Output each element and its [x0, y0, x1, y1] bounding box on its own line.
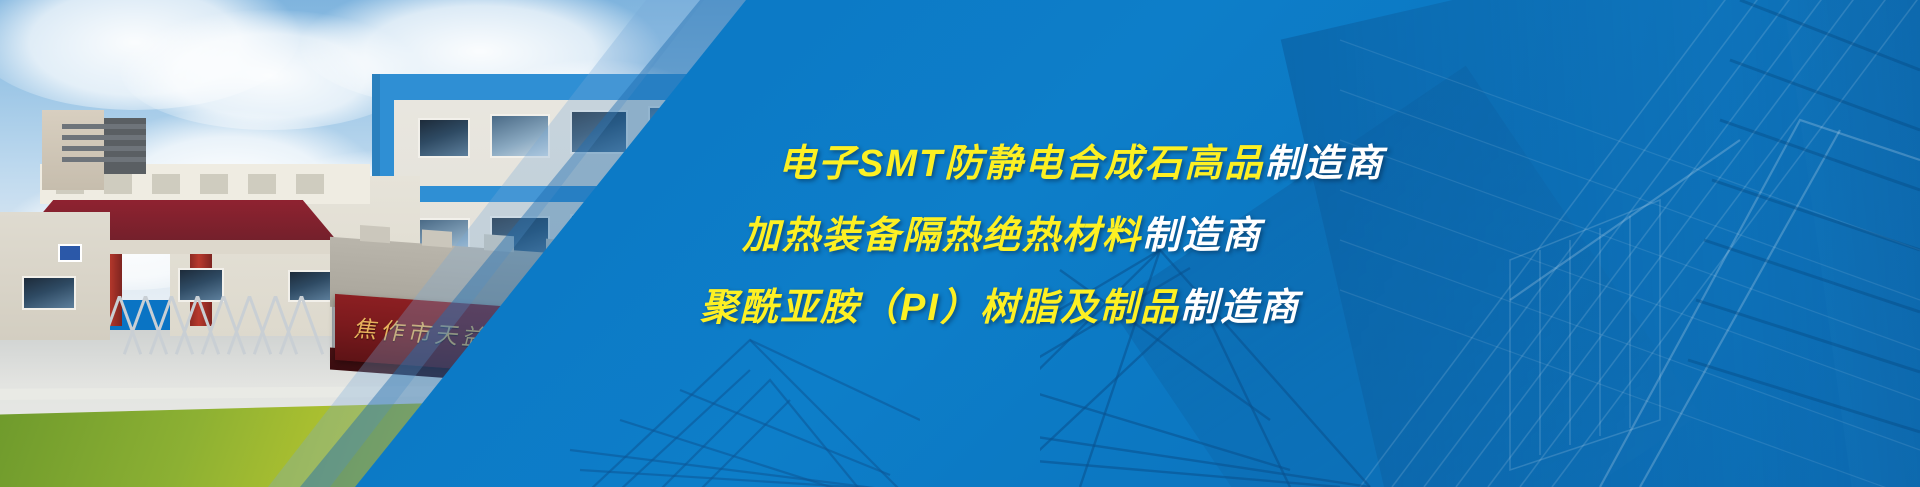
headline-line-3: 聚酰亚胺（PI）树脂及制品制造商 — [700, 272, 1520, 344]
window — [418, 118, 470, 158]
louver-blade — [62, 157, 146, 162]
gate-bar — [201, 296, 225, 355]
gate-bar — [118, 296, 142, 355]
headline-line-1: 电子SMT防静电合成石高品制造商 — [700, 128, 1520, 200]
headline-line-3-plain: 制造商 — [1180, 287, 1300, 329]
headline-line-3-highlight: 聚酰亚胺（PI）树脂及制品 — [700, 287, 1180, 329]
retractable-gate — [110, 296, 345, 356]
headline-block: 电子SMT防静电合成石高品制造商 加热装备隔热绝热材料制造商 聚酰亚胺（PI）树… — [700, 128, 1520, 344]
headline-line-2-highlight: 加热装备隔热绝热材料 — [742, 215, 1142, 257]
wall-plaque — [58, 244, 82, 262]
parapet-block — [296, 174, 324, 194]
louver-blade — [62, 124, 146, 129]
gate-bar — [196, 296, 220, 355]
gate-bar — [222, 296, 246, 355]
headline-line-2: 加热装备隔热绝热材料制造商 — [700, 200, 1520, 272]
gate-bar — [279, 296, 303, 355]
headline-line-2-plain: 制造商 — [1142, 215, 1262, 257]
wall-cap-block — [422, 230, 452, 248]
gate-bar — [170, 296, 194, 355]
company-hero-banner: 焦作市天益科技有限公司 — [0, 0, 1920, 487]
gate-bar — [175, 296, 199, 355]
parapet-block — [152, 174, 180, 194]
wall-cap-block — [360, 225, 390, 243]
parapet-block — [248, 174, 276, 194]
headline-line-1-highlight: 电子SMT防静电合成石高品 — [778, 143, 1264, 185]
gate-bar — [300, 296, 324, 355]
window — [22, 276, 76, 310]
gate-bar — [149, 296, 173, 355]
louver-vents — [62, 124, 146, 168]
parapet-block — [104, 174, 132, 194]
parapet-block — [200, 174, 228, 194]
louver-blade — [62, 146, 146, 151]
gate-bar — [248, 296, 272, 355]
gate-bar — [227, 296, 251, 355]
gate-bar — [144, 296, 168, 355]
gate-bar — [274, 296, 298, 355]
gate-bar — [110, 296, 121, 355]
louver-blade — [62, 135, 146, 140]
gate-bar — [123, 296, 147, 355]
gate-bar — [253, 296, 277, 355]
headline-line-1-plain: 制造商 — [1264, 143, 1384, 185]
